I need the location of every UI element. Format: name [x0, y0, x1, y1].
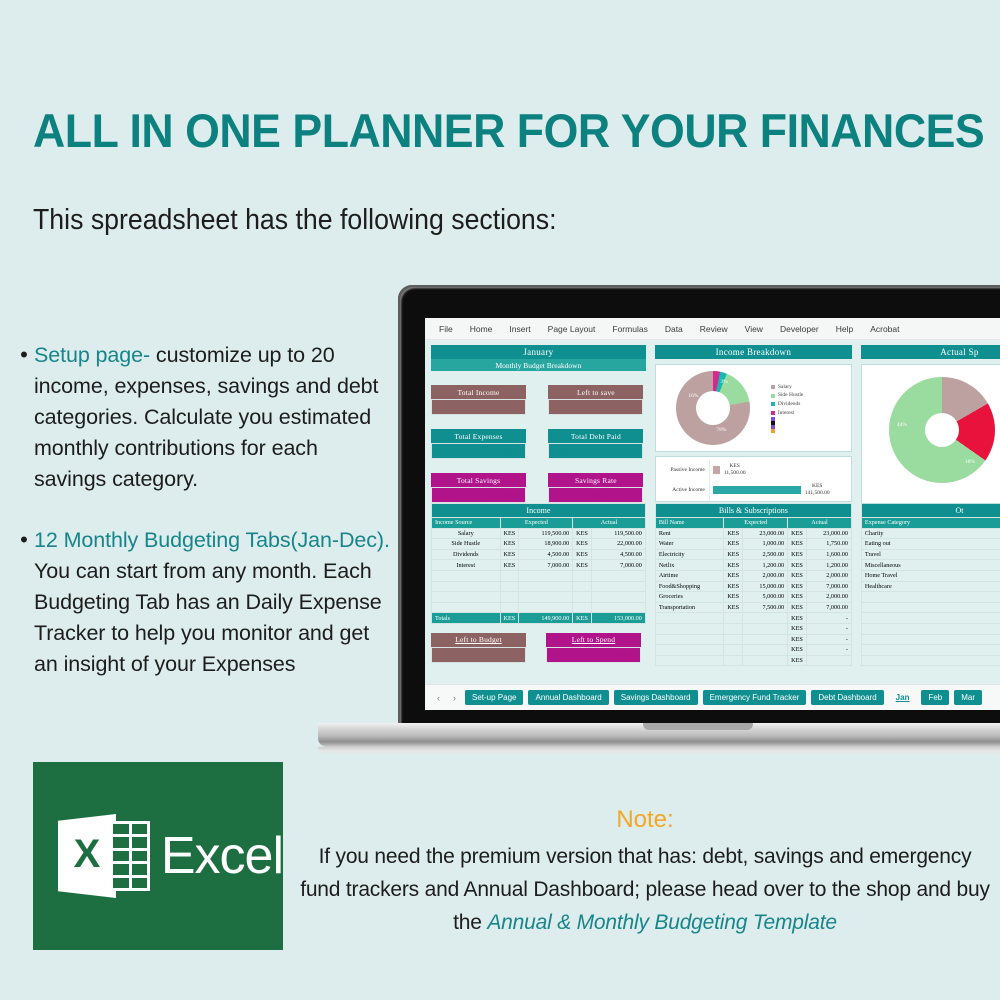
- cell-exp-cur: KES: [724, 581, 743, 592]
- amount: 66,000.00: [490, 491, 520, 500]
- actual-spending-panel: Actual Sp 44% 18%: [861, 345, 1000, 493]
- cell-act-cur: KES: [788, 602, 807, 613]
- menu-item-insert[interactable]: Insert: [509, 324, 530, 334]
- grid-cell: [132, 824, 148, 834]
- table-row: TransportationKES7,500.00KES7,000.00: [655, 602, 851, 613]
- cell-expected: 7,500.00: [743, 602, 788, 613]
- page-subtitle: This spreadsheet has the following secti…: [33, 204, 557, 237]
- cell-act-cur: KES: [788, 570, 807, 581]
- card-label: Total Expenses: [431, 429, 526, 443]
- col-actual: Actual: [788, 518, 852, 529]
- table-row: KES-: [655, 613, 851, 624]
- currency: KES: [554, 403, 568, 412]
- list-item: • Setup page- customize up to 20 income,…: [14, 340, 394, 495]
- table-row: SalaryKES119,500.00KES119,500.00: [432, 528, 646, 539]
- expense-category-table-panel: Ot Expense Category CharityKES Eating ou…: [861, 503, 1000, 666]
- table-row: TravelKES: [861, 549, 1000, 560]
- table-row: [432, 592, 646, 603]
- currency: KES: [552, 650, 566, 659]
- cell-act-cur: KES: [573, 528, 592, 539]
- bar-row-passive-income: Passive Income KES11,500.00: [658, 460, 849, 480]
- card-value: KES153,000.00: [431, 399, 526, 415]
- bills-table: Bills & Subscriptions Bill Name Expected…: [655, 503, 852, 666]
- currency: KES: [437, 650, 451, 659]
- legend-item: Salary: [771, 383, 804, 392]
- chart-legend: Salary Side Hustle Dividends Interest: [771, 383, 804, 433]
- menu-item-developer[interactable]: Developer: [780, 324, 819, 334]
- excel-menu-bar[interactable]: File Home Insert Page Layout Formulas Da…: [425, 318, 1000, 340]
- sheet-tab-savings-dashboard[interactable]: Savings Dashboard: [614, 690, 698, 705]
- legend-item: [771, 429, 804, 433]
- table-row-totals: TotalsKES149,900.00KES153,000.00: [432, 613, 646, 624]
- cell-act-cur: KES: [788, 560, 807, 571]
- cell-actual: 2,000.00: [806, 570, 851, 581]
- summary-card-total-debt-paid: Total Debt Paid KES27,500.00: [548, 429, 643, 459]
- cell-actual: 1,200.00: [806, 560, 851, 571]
- income-table-body: SalaryKES119,500.00KES119,500.00 Side Hu…: [432, 528, 646, 623]
- legend-label: Side Hustle: [778, 391, 804, 400]
- cell-act-cur: KES: [788, 623, 807, 634]
- table-row: [432, 570, 646, 581]
- legend-swatch: [771, 402, 775, 406]
- cell-act-cur: KES: [573, 549, 592, 560]
- menu-item-help[interactable]: Help: [836, 324, 853, 334]
- cell-act-cur: KES: [788, 613, 807, 624]
- cell-category: Eating out: [861, 539, 1000, 550]
- cell-actual: 22,000.00: [591, 539, 645, 550]
- cell-actual: -: [806, 623, 851, 634]
- table-row: WaterKES1,000.00KES1,750.00: [655, 539, 851, 550]
- excel-grid-icon: [110, 821, 150, 891]
- table-row: [861, 655, 1000, 666]
- cell-actual: 7,000.00: [591, 560, 645, 571]
- menu-item-data[interactable]: Data: [665, 324, 683, 334]
- cell-total-act-cur: KES: [573, 613, 592, 624]
- feature-bullet-list: • Setup page- customize up to 20 income,…: [14, 340, 394, 710]
- table-title: Bills & Subscriptions: [655, 504, 851, 518]
- page-title: ALL IN ONE PLANNER FOR YOUR FINANCES: [33, 103, 926, 158]
- table-row: [432, 581, 646, 592]
- cell-act-cur: KES: [788, 655, 807, 666]
- slice-label-side-hustle: 16%: [688, 393, 698, 399]
- note-title: Note:: [300, 806, 990, 834]
- cell-expected: 1,200.00: [743, 560, 788, 571]
- income-table-panel: Income Income Source Expected Actual Sal…: [431, 503, 646, 666]
- col-actual: Actual: [573, 518, 646, 529]
- cell-category: Miscellaneous: [861, 560, 1000, 571]
- cell-total-label: Totals: [432, 613, 501, 624]
- excel-logo: X Excel: [33, 762, 283, 950]
- note-link[interactable]: Annual & Monthly Budgeting Template: [487, 911, 836, 934]
- cell-act-cur: KES: [573, 539, 592, 550]
- cell-actual: 7,000.00: [806, 602, 851, 613]
- sheet-tab-feb[interactable]: Feb: [921, 690, 949, 705]
- table-row: AirtimeKES2,000.00KES2,000.00: [655, 570, 851, 581]
- cell-actual: 2,000.00: [806, 592, 851, 603]
- bullet-dot-icon: •: [14, 525, 34, 680]
- next-sheet-arrow-icon[interactable]: ›: [449, 693, 460, 703]
- bar-label: Passive Income: [658, 460, 710, 480]
- card-value: KES66,000.00: [431, 487, 526, 503]
- menu-item-formulas[interactable]: Formulas: [612, 324, 647, 334]
- bar-value: KES11,500.00: [724, 463, 746, 477]
- cell-name: Transportation: [655, 602, 724, 613]
- bullet-text: Setup page- customize up to 20 income, e…: [34, 340, 394, 495]
- sheet-tab-emergency-fund-tracker[interactable]: Emergency Fund Tracker: [703, 690, 807, 705]
- table-row: [861, 592, 1000, 603]
- grid-cell: [113, 878, 129, 888]
- cell-actual: -: [806, 634, 851, 645]
- cell-actual: -: [806, 645, 851, 656]
- col-expected: Expected: [500, 518, 573, 529]
- income-table: Income Income Source Expected Actual Sal…: [431, 503, 646, 624]
- cell-name: Netlix: [655, 560, 724, 571]
- legend-swatch: [771, 394, 775, 398]
- legend-item: Interest: [771, 409, 804, 418]
- grid-cell: [132, 851, 148, 861]
- amount: (16,133.33): [485, 650, 520, 659]
- note-line-1: If you need the premium version that has…: [319, 845, 864, 868]
- excel-x-icon: X: [58, 809, 149, 903]
- cell-actual: -: [806, 613, 851, 624]
- spreadsheet-screen: File Home Insert Page Layout Formulas Da…: [425, 318, 1000, 710]
- cell-actual: 7,000.00: [806, 581, 851, 592]
- card-label: Left to Spend: [546, 633, 641, 647]
- income-breakdown-panel: Income Breakdown 3% 16% 78% Salary Side …: [655, 345, 852, 493]
- table-row: KES-: [655, 645, 851, 656]
- cell-name: Water: [655, 539, 724, 550]
- monthly-budget-breakdown-panel: January Monthly Budget Breakdown Total I…: [431, 345, 646, 493]
- card-label: Left to save: [548, 385, 643, 399]
- expense-table-body: CharityKES Eating outKES TravelKES Misce…: [861, 528, 1000, 666]
- left-to-budget-card: Left to Budget KES(16,133.33): [431, 633, 526, 663]
- legend-item: Side Hustle: [771, 391, 804, 400]
- menu-item-file[interactable]: File: [439, 324, 453, 334]
- bullet-text: 12 Monthly Budgeting Tabs(Jan-Dec). You …: [34, 525, 394, 680]
- sheet-tab-setup-page[interactable]: Set-up Page: [465, 690, 523, 705]
- cell-name: Electricity: [655, 549, 724, 560]
- cell-expected: 2,500.00: [743, 549, 788, 560]
- bar-row-active-income: Active Income KES141,500.00: [658, 480, 849, 500]
- expense-donut-chart: 44% 18%: [861, 364, 1000, 504]
- grid-cell: [132, 878, 148, 888]
- amount: 27,500.00: [607, 447, 637, 456]
- cell-exp-cur: KES: [724, 560, 743, 571]
- col-expected: Expected: [724, 518, 788, 529]
- table-row: [432, 602, 646, 613]
- cell-act-cur: KES: [788, 592, 807, 603]
- cell-expected: 5,000.00: [743, 592, 788, 603]
- cell-category: Travel: [861, 549, 1000, 560]
- legend-label: Interest: [778, 409, 795, 418]
- cell-actual: 23,000.00: [806, 528, 851, 539]
- table-row: Eating outKES: [861, 539, 1000, 550]
- cell-source: Salary: [432, 528, 501, 539]
- amount: 43%: [589, 491, 603, 500]
- note-block: Note: If you need the premium version th…: [300, 806, 990, 939]
- table-row: DividendsKES4,500.00KES4,500.00: [432, 549, 646, 560]
- card-value: KES(16,133.33): [431, 647, 526, 663]
- cell-act-cur: KES: [788, 581, 807, 592]
- card-value: KES1,220.00: [546, 647, 641, 663]
- cell-expected: 1,000.00: [743, 539, 788, 550]
- note-body: If you need the premium version that has…: [300, 840, 990, 939]
- slice-label-salary: 78%: [716, 427, 726, 433]
- table-row: KES: [655, 655, 851, 666]
- bills-table-body: RentKES23,000.00KES23,000.00 WaterKES1,0…: [655, 528, 851, 666]
- cell-actual: 119,500.00: [591, 528, 645, 539]
- table-row: Food&ShoppingKES15,000.00KES7,000.00: [655, 581, 851, 592]
- cell-expected: 15,000.00: [743, 581, 788, 592]
- cell-name: Groceries: [655, 592, 724, 603]
- cell-total-actual: 153,000.00: [591, 613, 645, 624]
- table-row: KES-: [655, 623, 851, 634]
- table-row: NetlixKES1,200.00KES1,200.00: [655, 560, 851, 571]
- cell-exp-cur: KES: [500, 528, 519, 539]
- menu-item-acrobat[interactable]: Acrobat: [870, 324, 899, 334]
- table-row: Home TravelKES: [861, 570, 1000, 581]
- cell-actual: 1,750.00: [806, 539, 851, 550]
- card-value: 43%: [548, 487, 643, 503]
- laptop-base-edge: [318, 747, 1000, 754]
- legend-item: Dividends: [771, 400, 804, 409]
- cell-exp-cur: KES: [500, 560, 519, 571]
- cell-exp-cur: KES: [724, 528, 743, 539]
- bullet-highlight: 12 Monthly Budgeting Tabs(Jan-Dec).: [34, 528, 390, 552]
- cell-category: Charity: [861, 528, 1000, 539]
- legend-label: Salary: [778, 383, 792, 392]
- slice-label-interest: 3%: [720, 379, 727, 385]
- table-title: Income: [432, 504, 646, 518]
- sheet-tab-annual-dashboard[interactable]: Annual Dashboard: [528, 690, 608, 705]
- sheet-content: January Monthly Budget Breakdown Total I…: [425, 340, 1000, 684]
- menu-item-review[interactable]: Review: [700, 324, 728, 334]
- cell-category: Healthcare: [861, 581, 1000, 592]
- sheet-tab-jan[interactable]: Jan: [889, 690, 917, 705]
- bullet-highlight: Setup page-: [34, 343, 150, 367]
- summary-card-total-savings: Total Savings KES66,000.00: [431, 473, 526, 503]
- cell-expected: 23,000.00: [743, 528, 788, 539]
- card-label: Left to Budget: [431, 633, 526, 647]
- bills-table-panel: Bills & Subscriptions Bill Name Expected…: [655, 503, 852, 666]
- donut-ring: 44% 18%: [889, 377, 995, 483]
- card-value: KES58,280.00: [431, 443, 526, 459]
- amount: 58,280.00: [490, 447, 520, 456]
- cell-name: Food&Shopping: [655, 581, 724, 592]
- bullet-dot-icon: •: [14, 340, 34, 495]
- cell-name: Airtime: [655, 570, 724, 581]
- card-label: Total Savings: [431, 473, 526, 487]
- cell-actual: 4,500.00: [591, 549, 645, 560]
- bar-fill: [713, 486, 801, 494]
- table-row: GroceriesKES5,000.00KES2,000.00: [655, 592, 851, 603]
- income-split-bar-chart: Passive Income KES11,500.00 Active Incom…: [655, 456, 852, 502]
- table-row: Side HustleKES18,900.00KES22,000.00: [432, 539, 646, 550]
- amount: 1,220.00: [609, 650, 635, 659]
- cell-act-cur: KES: [788, 539, 807, 550]
- cell-expected: 7,000.00: [519, 560, 573, 571]
- card-label: Savings Rate: [548, 473, 643, 487]
- grid-cell: [132, 837, 148, 847]
- summary-card-total-expenses: Total Expenses KES58,280.00: [431, 429, 526, 459]
- income-donut-chart: 3% 16% 78% Salary Side Hustle Dividends …: [655, 364, 852, 452]
- cell-total-expected: 149,900.00: [519, 613, 573, 624]
- slice-label-bills: 44%: [897, 422, 907, 428]
- left-to-spend-card: Left to Spend KES1,220.00: [546, 633, 641, 663]
- cell-exp-cur: KES: [724, 539, 743, 550]
- expense-category-table: Ot Expense Category CharityKES Eating ou…: [861, 503, 1000, 666]
- table-row: InterestKES7,000.00KES7,000.00: [432, 560, 646, 571]
- cell-expected: 119,500.00: [519, 528, 573, 539]
- bar-fill: [713, 466, 720, 474]
- slice-label-debt: 18%: [965, 459, 975, 465]
- cell-exp-cur: KES: [724, 592, 743, 603]
- grid-cell: [132, 864, 148, 874]
- cell-act-cur: KES: [788, 645, 807, 656]
- summary-card-left-to-save: Left to save KES1,220.00: [548, 385, 643, 415]
- grid-cell: [113, 824, 129, 834]
- chart-title: Income Breakdown: [655, 345, 852, 359]
- grid-cell: [113, 837, 129, 847]
- amount: 153,000.00: [486, 403, 520, 412]
- card-value: KES1,220.00: [548, 399, 643, 415]
- donut-ring: 3% 16% 78%: [676, 371, 750, 445]
- bar-label: Active Income: [658, 480, 710, 500]
- cell-exp-cur: KES: [724, 549, 743, 560]
- chart-title: Actual Sp: [861, 345, 1000, 359]
- sheet-tab-debt-dashboard[interactable]: Debt Dashboard: [811, 690, 883, 705]
- cell-exp-cur: KES: [500, 539, 519, 550]
- card-value: KES27,500.00: [548, 443, 643, 459]
- table-row: KES-: [655, 634, 851, 645]
- prev-sheet-arrow-icon[interactable]: ‹: [433, 693, 444, 703]
- list-item: • 12 Monthly Budgeting Tabs(Jan-Dec). Yo…: [14, 525, 394, 680]
- sheet-tab-mar[interactable]: Mar: [954, 690, 982, 705]
- cell-source: Interest: [432, 560, 501, 571]
- laptop-mockup: File Home Insert Page Layout Formulas Da…: [398, 285, 1000, 725]
- cell-exp-cur: KES: [724, 570, 743, 581]
- cell-act-cur: KES: [788, 549, 807, 560]
- table-row: [861, 623, 1000, 634]
- summary-card-savings-rate: Savings Rate 43%: [548, 473, 643, 503]
- bullet-rest: You can start from any month. Each Budge…: [34, 559, 382, 676]
- legend-swatch: [771, 411, 775, 415]
- cell-act-cur: KES: [788, 634, 807, 645]
- table-row: HealthcareKES: [861, 581, 1000, 592]
- table-row: [861, 645, 1000, 656]
- cell-act-cur: KES: [788, 528, 807, 539]
- legend-swatch: [771, 429, 775, 433]
- budget-subtitle: Monthly Budget Breakdown: [431, 359, 646, 371]
- table-row: RentKES23,000.00KES23,000.00: [655, 528, 851, 539]
- cell-source: Side Hustle: [432, 539, 501, 550]
- currency: KES: [437, 447, 451, 456]
- table-row: [861, 602, 1000, 613]
- excel-wordmark: Excel: [161, 826, 283, 886]
- table-row: [861, 634, 1000, 645]
- col-bill-name: Bill Name: [655, 518, 724, 529]
- table-title: Ot: [861, 504, 1000, 518]
- summary-card-total-income: Total Income KES153,000.00: [431, 385, 526, 415]
- month-title: January: [431, 345, 646, 359]
- col-income-source: Income Source: [432, 518, 501, 529]
- col-expense-category: Expense Category: [861, 518, 1000, 529]
- table-row: MiscellaneousKES: [861, 560, 1000, 571]
- sheet-tab-bar[interactable]: ‹ › Set-up Page Annual Dashboard Savings…: [425, 684, 1000, 710]
- legend-swatch: [771, 385, 775, 389]
- currency: KES: [437, 491, 451, 500]
- excel-letter: X: [66, 833, 108, 875]
- table-row: CharityKES: [861, 528, 1000, 539]
- laptop-base: [318, 723, 1000, 747]
- cell-exp-cur: KES: [500, 549, 519, 560]
- table-row: [861, 613, 1000, 624]
- cell-total-exp-cur: KES: [500, 613, 519, 624]
- cell-source: Dividends: [432, 549, 501, 560]
- currency: KES: [437, 403, 451, 412]
- cell-actual: 1,600.00: [806, 549, 851, 560]
- cell-category: Home Travel: [861, 570, 1000, 581]
- cell-act-cur: KES: [573, 560, 592, 571]
- cell-name: Rent: [655, 528, 724, 539]
- card-label: Total Debt Paid: [548, 429, 643, 443]
- menu-item-home[interactable]: Home: [470, 324, 493, 334]
- table-row: ElectricityKES2,500.00KES1,600.00: [655, 549, 851, 560]
- currency: KES: [554, 447, 568, 456]
- cell-expected: 18,900.00: [519, 539, 573, 550]
- menu-item-view[interactable]: View: [745, 324, 763, 334]
- cell-expected: 2,000.00: [743, 570, 788, 581]
- grid-cell: [113, 864, 129, 874]
- grid-cell: [113, 851, 129, 861]
- card-label: Total Income: [431, 385, 526, 399]
- cell-exp-cur: KES: [724, 602, 743, 613]
- legend-label: Dividends: [778, 400, 801, 409]
- amount: 1,220.00: [611, 403, 637, 412]
- bar-value: KES141,500.00: [805, 483, 830, 497]
- menu-item-page-layout[interactable]: Page Layout: [548, 324, 596, 334]
- cell-expected: 4,500.00: [519, 549, 573, 560]
